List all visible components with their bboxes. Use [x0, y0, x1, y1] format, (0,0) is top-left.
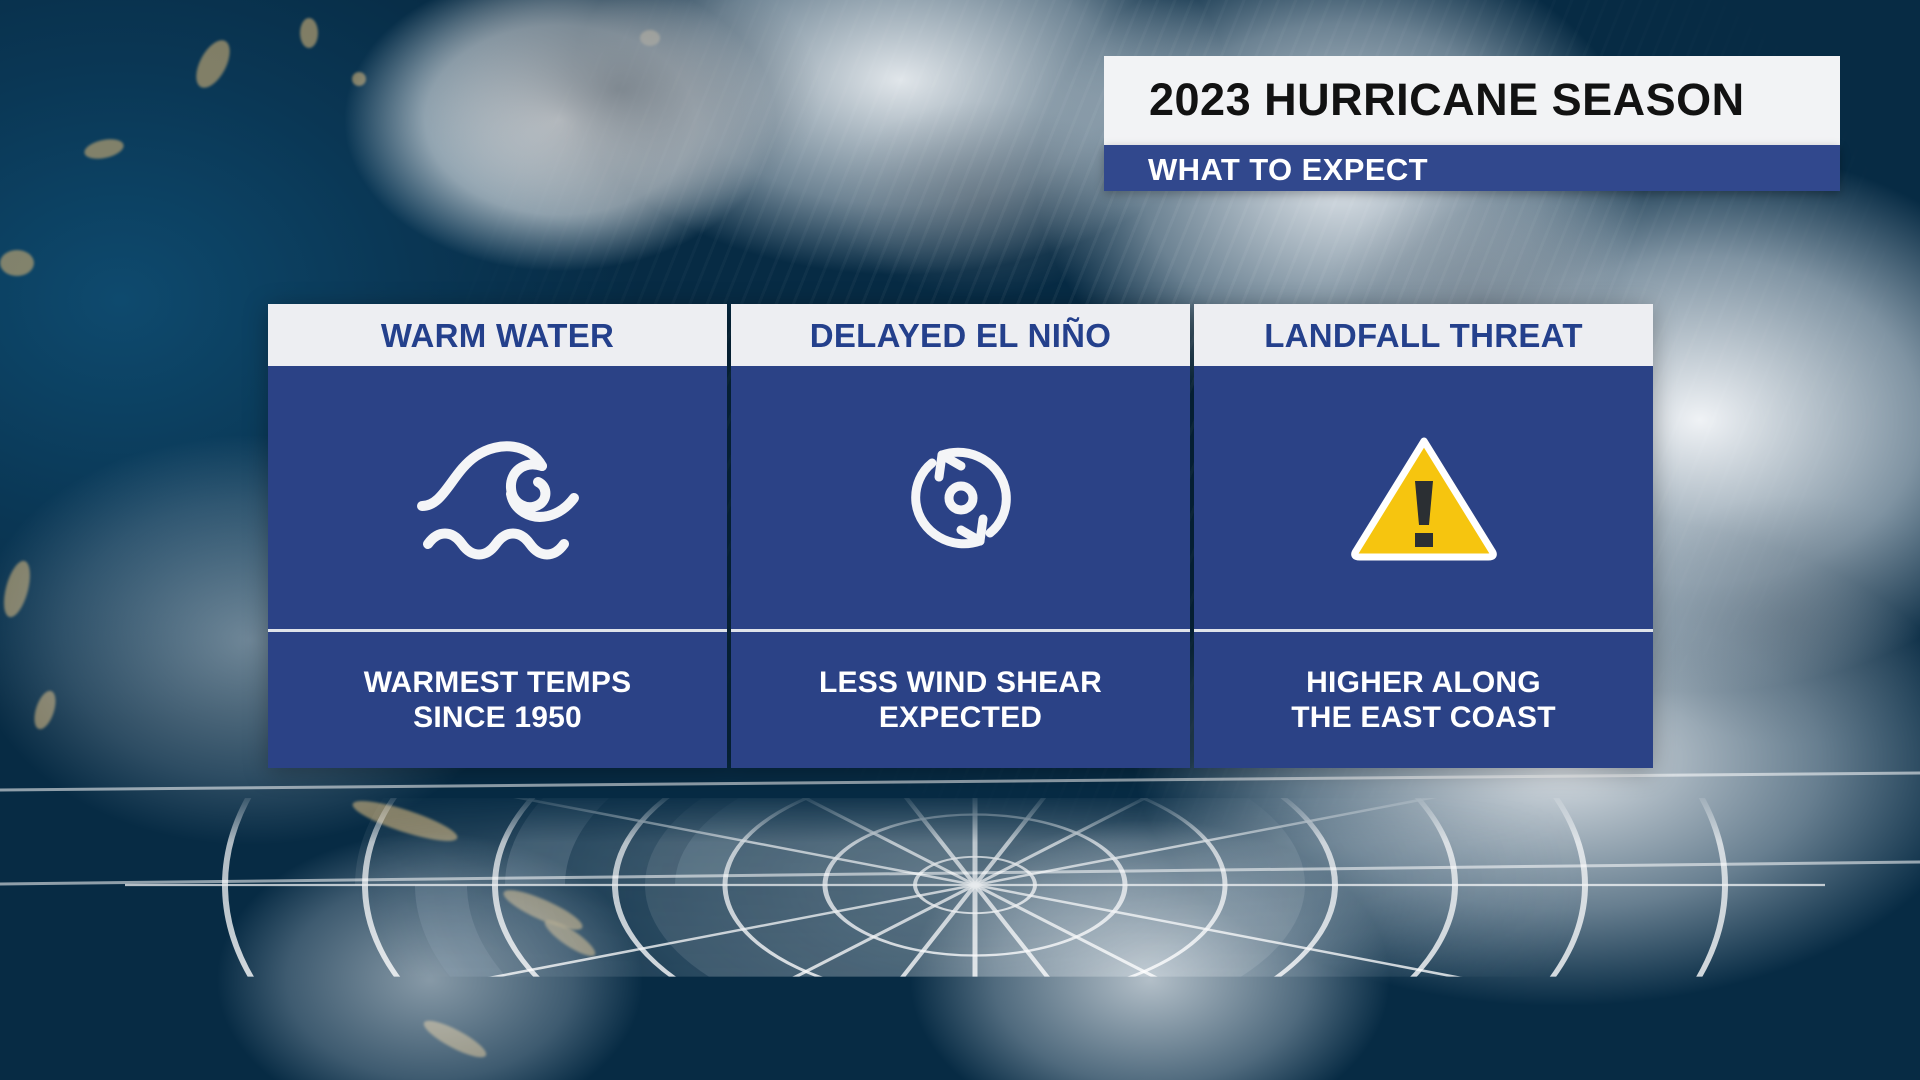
caption-line-1: LESS WIND SHEAR — [819, 665, 1102, 700]
warning-triangle-icon — [1350, 433, 1498, 563]
caption-line-1: HIGHER ALONG — [1291, 665, 1555, 700]
card-caption-delayed-el-nino: LESS WIND SHEAR EXPECTED — [731, 632, 1190, 768]
card-icon-area-landfall-threat — [1194, 366, 1653, 632]
card-header-warm-water: WARM WATER — [268, 304, 727, 366]
card-caption-text: WARMEST TEMPS SINCE 1950 — [354, 665, 642, 736]
card-icon-area-delayed-el-nino — [731, 366, 1190, 632]
card-caption-warm-water: WARMEST TEMPS SINCE 1950 — [268, 632, 727, 768]
card-caption-text: HIGHER ALONG THE EAST COAST — [1281, 665, 1565, 736]
card-delayed-el-nino: DELAYED EL NIÑO — [731, 304, 1190, 768]
card-header-landfall-threat: LANDFALL THREAT — [1194, 304, 1653, 366]
caption-line-2: EXPECTED — [819, 700, 1102, 735]
ocean-wave-icon — [414, 432, 582, 564]
caption-line-2: THE EAST COAST — [1291, 700, 1555, 735]
page-title: 2023 HURRICANE SEASON — [1104, 56, 1840, 145]
title-block: 2023 HURRICANE SEASON WHAT TO EXPECT — [1104, 56, 1840, 191]
caption-line-1: WARMEST TEMPS — [364, 665, 632, 700]
card-header-label: LANDFALL THREAT — [1264, 319, 1583, 352]
card-header-label: WARM WATER — [381, 319, 614, 352]
card-caption-landfall-threat: HIGHER ALONG THE EAST COAST — [1194, 632, 1653, 768]
hurricane-icon — [898, 435, 1024, 561]
card-warm-water: WARM WATER WARMEST TEMPS — [268, 304, 727, 768]
card-caption-text: LESS WIND SHEAR EXPECTED — [809, 665, 1112, 736]
forecast-factor-cards: WARM WATER WARMEST TEMPS — [268, 304, 1653, 768]
card-header-delayed-el-nino: DELAYED EL NIÑO — [731, 304, 1190, 366]
page-subtitle: WHAT TO EXPECT — [1104, 145, 1840, 191]
card-header-label: DELAYED EL NIÑO — [810, 319, 1112, 352]
card-icon-area-warm-water — [268, 366, 727, 632]
caption-line-2: SINCE 1950 — [364, 700, 632, 735]
card-landfall-threat: LANDFALL THREAT HIGHER ALONG THE EAST CO… — [1194, 304, 1653, 768]
broadcast-weather-graphic: 2023 HURRICANE SEASON WHAT TO EXPECT WAR… — [0, 0, 1920, 1080]
